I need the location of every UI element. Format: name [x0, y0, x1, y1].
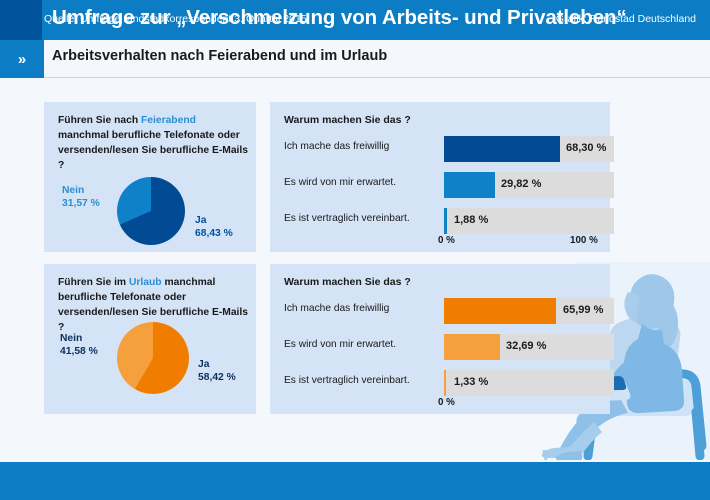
bar-chart-title-urlaub: Warum machen Sie das ?: [284, 276, 411, 288]
bar-row: Es wird von mir erwartet. 32,69 %: [284, 334, 600, 360]
footer-credit: Grafik: Randstad Deutschland: [556, 13, 696, 25]
bar-label: Ich mache das freiwillig: [284, 303, 389, 314]
panel-feierabend-pie: Führen Sie nach Feierabend manchmal beru…: [44, 102, 256, 252]
bar-value: 29,82 %: [501, 178, 541, 190]
bar-track: 1,33 %: [444, 370, 614, 396]
page-subtitle: Arbeitsverhalten nach Feierabend und im …: [52, 48, 387, 64]
pie-label-ja-urlaub: Ja 58,42 %: [198, 358, 236, 384]
bar-label: Ich mache das freiwillig: [284, 141, 389, 152]
question-feierabend-prefix: Führen Sie nach: [58, 115, 141, 126]
bar-row: Es wird von mir erwartet. 29,82 %: [284, 172, 600, 198]
infographic-page: Umfrage zur „Verschmelzung von Arbeits- …: [0, 0, 710, 500]
pie-label-nein-feierabend-value: 31,57 %: [62, 197, 100, 210]
axis-label-min: 0 %: [438, 397, 455, 408]
bar-value: 68,30 %: [566, 142, 606, 154]
pie-chart-feierabend: [117, 177, 185, 245]
bar-label: Es wird von mir erwartet.: [284, 339, 396, 350]
question-feierabend: Führen Sie nach Feierabend manchmal beru…: [58, 113, 248, 173]
question-urlaub-highlight: Urlaub: [129, 277, 162, 288]
pie-label-ja-urlaub-text: Ja: [198, 358, 236, 371]
bar-label: Es ist vertraglich vereinbart.: [284, 375, 410, 386]
bar-value: 1,33 %: [454, 376, 488, 388]
question-urlaub-prefix: Führen Sie im: [58, 277, 129, 288]
chevron-right-icon: »: [0, 40, 44, 78]
pie-label-nein-urlaub-text: Nein: [60, 332, 98, 345]
bar-fill: [444, 172, 495, 198]
bar-fill: [444, 208, 447, 234]
bar-value: 1,88 %: [454, 214, 488, 226]
bar-track: 29,82 %: [444, 172, 614, 198]
panel-warum-urlaub: Warum machen Sie das ? Ich mache das fre…: [270, 264, 610, 414]
bar-track: 65,99 %: [444, 298, 614, 324]
axis-label-max: 100 %: [570, 235, 598, 246]
footer-band: [0, 462, 710, 500]
bar-row: Es ist vertraglich vereinbart. 1,33 %: [284, 370, 600, 396]
panel-urlaub-pie: Führen Sie im Urlaub manchmal berufliche…: [44, 264, 256, 414]
header-accent-block: [0, 0, 42, 40]
pie-chart-urlaub: [117, 322, 189, 394]
bar-label: Es ist vertraglich vereinbart.: [284, 213, 410, 224]
pie-label-ja-feierabend-text: Ja: [195, 214, 233, 227]
bar-label: Es wird von mir erwartet.: [284, 177, 396, 188]
bar-track: 1,88 %: [444, 208, 614, 234]
bar-track: 32,69 %: [444, 334, 614, 360]
bar-row: Ich mache das freiwillig 65,99 %: [284, 298, 600, 324]
footer-source: Quelle: Umfrage randstadkorrespondent 3.…: [44, 13, 307, 25]
bar-value: 32,69 %: [506, 340, 546, 352]
bar-chart-title-feierabend: Warum machen Sie das ?: [284, 114, 411, 126]
bar-value: 65,99 %: [563, 304, 603, 316]
panel-warum-feierabend: Warum machen Sie das ? Ich mache das fre…: [270, 102, 610, 252]
axis-label-min: 0 %: [438, 235, 455, 246]
bar-fill: [444, 136, 560, 162]
pie-label-nein-urlaub: Nein 41,58 %: [60, 332, 98, 358]
bar-fill: [444, 298, 556, 324]
header-divider: [44, 77, 710, 78]
bar-row: Ich mache das freiwillig 68,30 %: [284, 136, 600, 162]
bar-fill: [444, 370, 446, 396]
question-feierabend-rest: manchmal berufliche Telefonate oder vers…: [58, 130, 248, 171]
pie-label-ja-feierabend: Ja 68,43 %: [195, 214, 233, 240]
bar-fill: [444, 334, 500, 360]
pie-label-nein-feierabend-text: Nein: [62, 184, 100, 197]
bar-track: 68,30 %: [444, 136, 614, 162]
pie-label-ja-feierabend-value: 68,43 %: [195, 227, 233, 240]
bar-row: Es ist vertraglich vereinbart. 1,88 %: [284, 208, 600, 234]
pie-label-nein-feierabend: Nein 31,57 %: [62, 184, 100, 210]
pie-label-ja-urlaub-value: 58,42 %: [198, 371, 236, 384]
question-feierabend-highlight: Feierabend: [141, 115, 196, 126]
pie-label-nein-urlaub-value: 41,58 %: [60, 345, 98, 358]
